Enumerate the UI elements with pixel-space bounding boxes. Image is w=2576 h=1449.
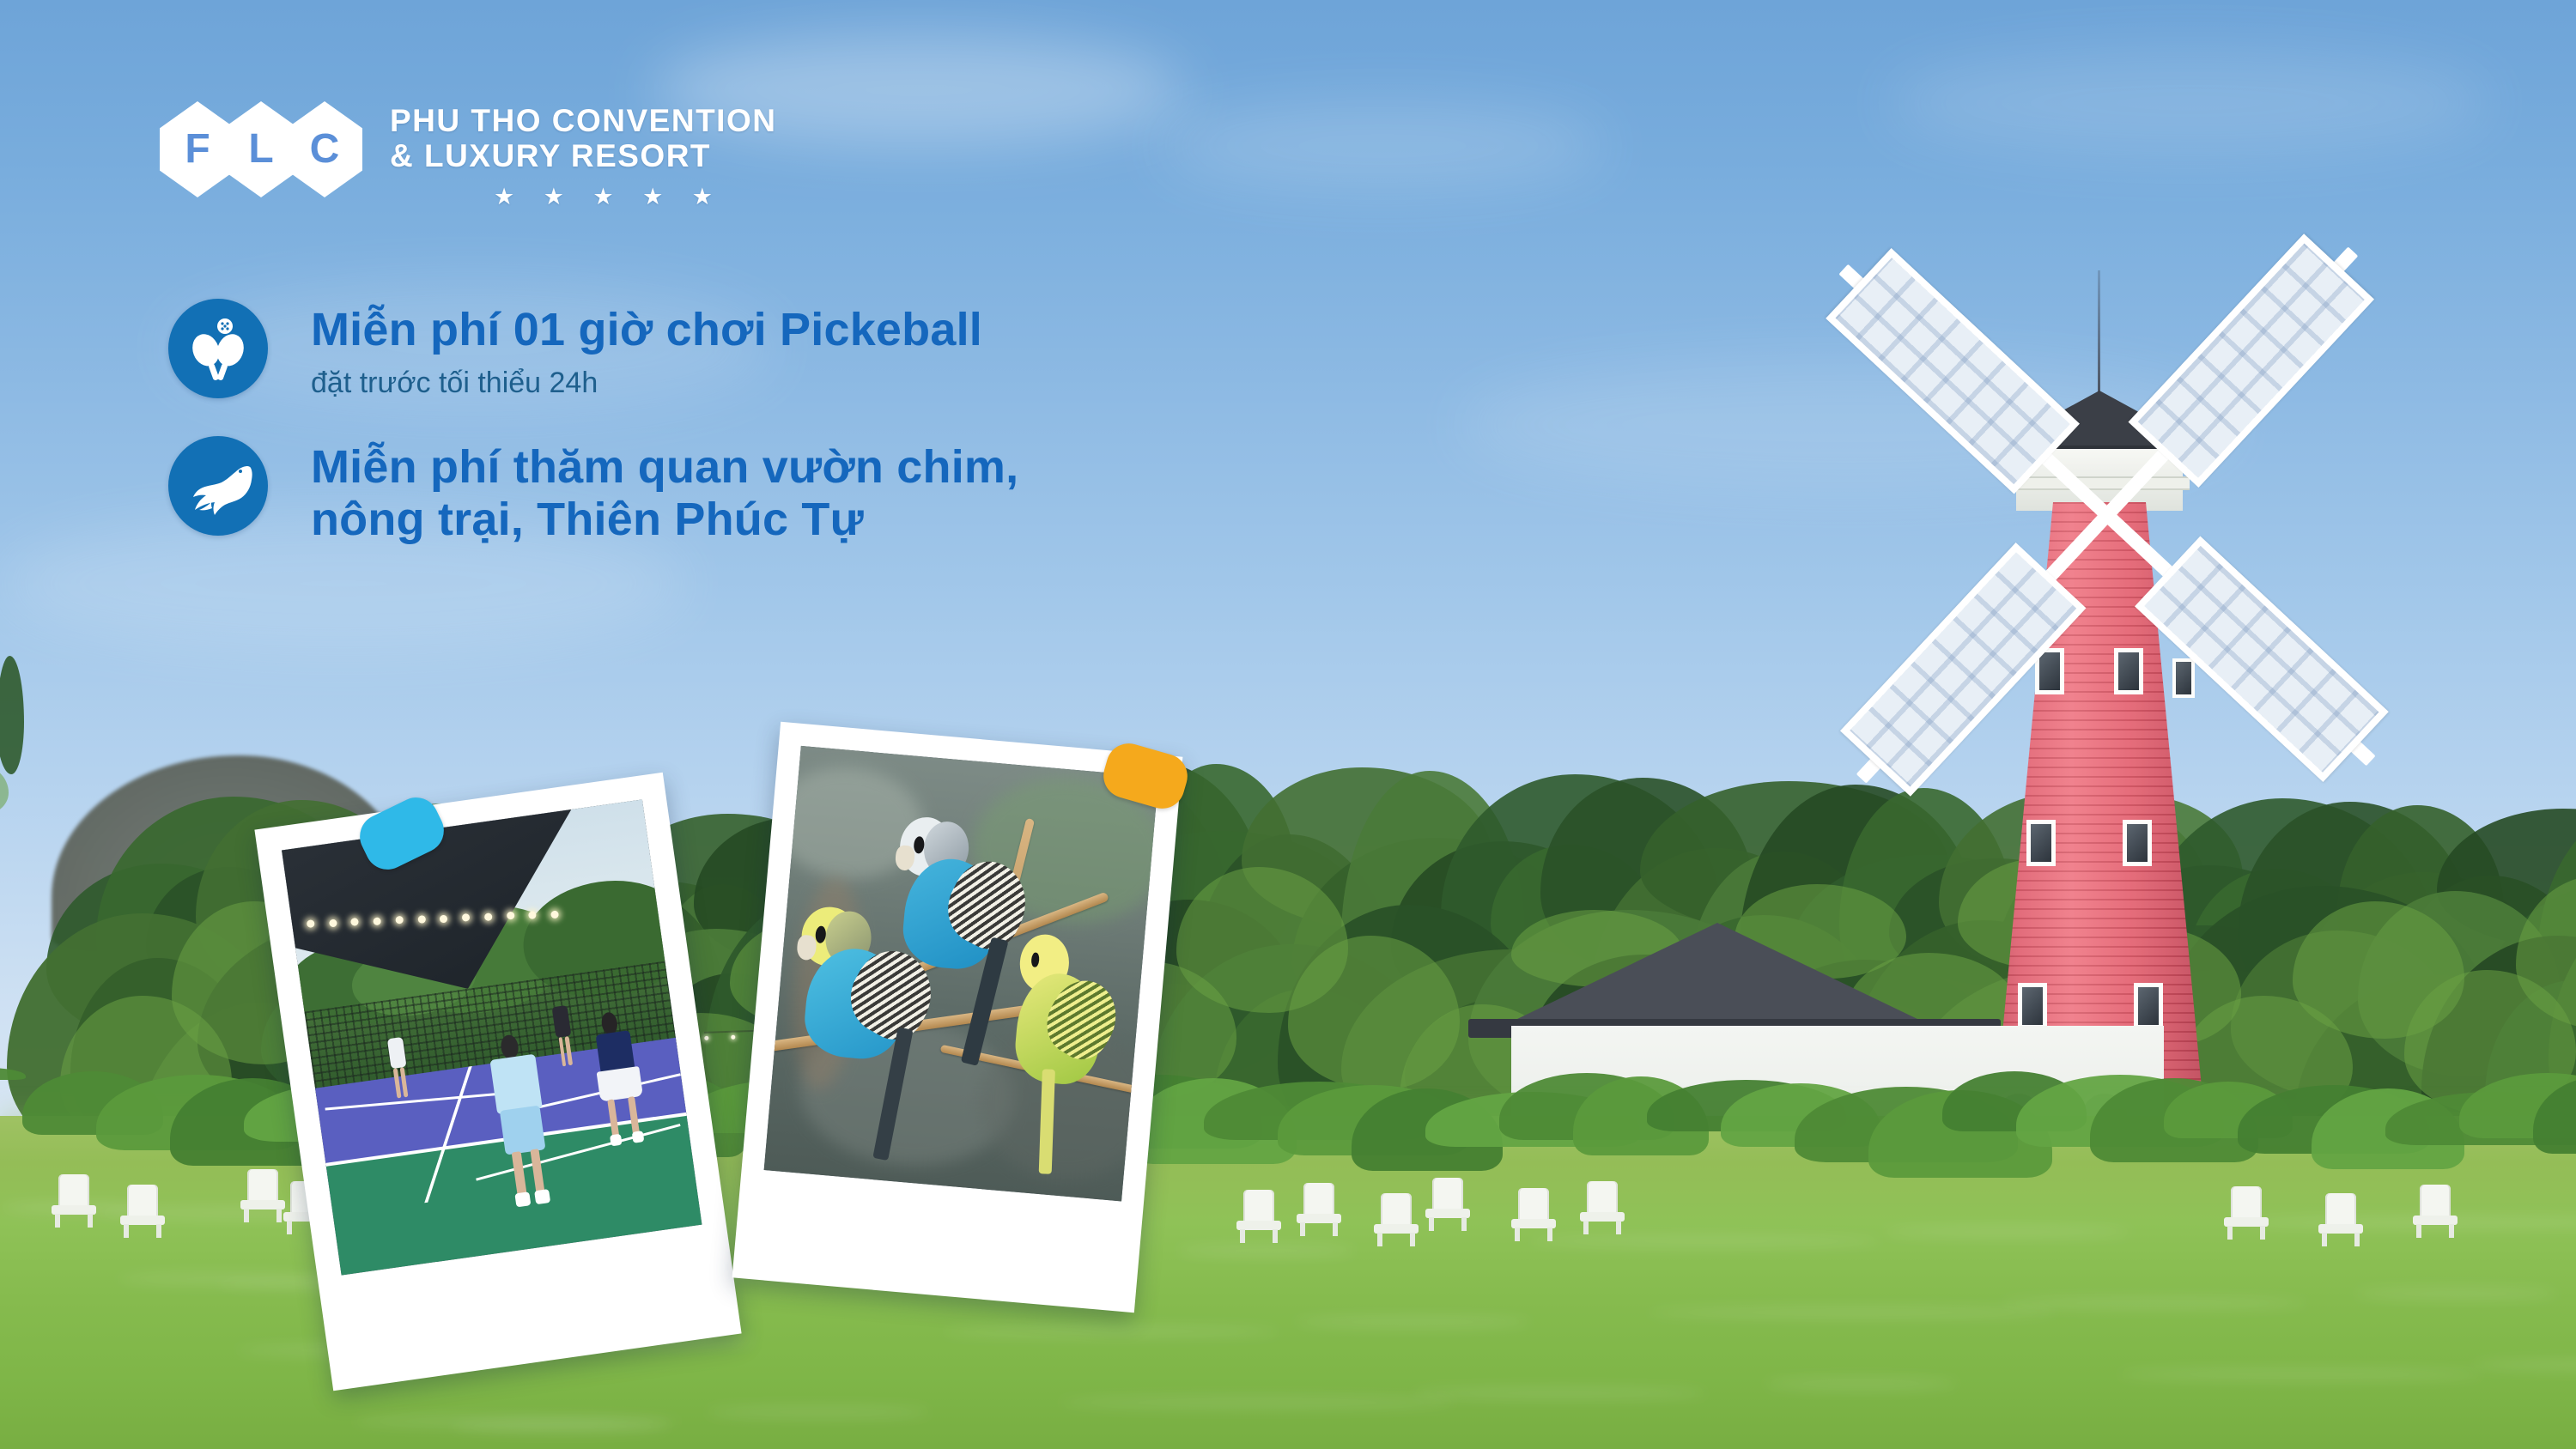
promo-banner: F L C PHU THO CONVENTION & LUXURY RESORT…: [0, 0, 2576, 1449]
polaroid-pickleball[interactable]: [254, 773, 741, 1391]
feature-title: Miễn phí 01 giờ chơi Pickeball: [311, 304, 982, 357]
lawn-chair: [1236, 1190, 1281, 1243]
feature-subtitle: đặt trước tối thiểu 24h: [311, 364, 982, 402]
brand-logo: F L C PHU THO CONVENTION & LUXURY RESORT…: [160, 101, 829, 226]
star-rating: ★ ★ ★ ★ ★: [390, 184, 828, 210]
lawn-chair: [1297, 1183, 1341, 1236]
windmill-window: [2026, 820, 2056, 866]
pickleball-paddles-icon: [168, 299, 268, 398]
windmill-spire: [2098, 270, 2100, 395]
flc-letter: F: [185, 129, 210, 170]
lawn-chair: [1374, 1193, 1419, 1246]
resort-name: PHU THO CONVENTION & LUXURY RESORT: [390, 103, 828, 174]
budgie-green: [987, 926, 1151, 1176]
flc-mark: F L C: [160, 101, 350, 197]
aviary-photo: [764, 746, 1159, 1202]
feature-item-pickleball: Miễn phí 01 giờ chơi Pickeball đặt trước…: [168, 299, 1508, 402]
windmill-window: [2114, 648, 2143, 694]
lawn-chair: [52, 1174, 96, 1228]
windmill-window: [2172, 658, 2195, 698]
building-gable-roof: [1494, 923, 1941, 1030]
lawn-chair: [1511, 1188, 1556, 1241]
budgie-yellow-head: [774, 900, 967, 1161]
flc-tile-c: C: [287, 101, 362, 197]
flc-letter: C: [310, 129, 340, 170]
lawn-chair: [1580, 1181, 1625, 1234]
polaroid-aviary[interactable]: [732, 722, 1183, 1313]
resort-name-line1: PHU THO CONVENTION: [390, 103, 828, 138]
dove-icon: [168, 436, 268, 536]
feature-item-aviary: Miễn phí thăm quan vườn chim, nông trại,…: [168, 436, 1508, 554]
windmill-window: [2123, 820, 2152, 866]
lawn-chair: [2413, 1185, 2458, 1238]
lawn-chair: [1425, 1178, 1470, 1231]
windmill-gallery: [2009, 476, 2190, 490]
windmill-sail: [2102, 246, 2358, 519]
resort-name-line2: & LUXURY RESORT: [390, 138, 828, 173]
flc-letter: L: [248, 129, 273, 170]
pickleball-photo: [282, 799, 702, 1275]
lawn-chair: [2224, 1186, 2269, 1240]
feature-list: Miễn phí 01 giờ chơi Pickeball đặt trước…: [168, 299, 1508, 588]
feature-title: Miễn phí thăm quan vườn chim, nông trại,…: [311, 441, 1018, 547]
